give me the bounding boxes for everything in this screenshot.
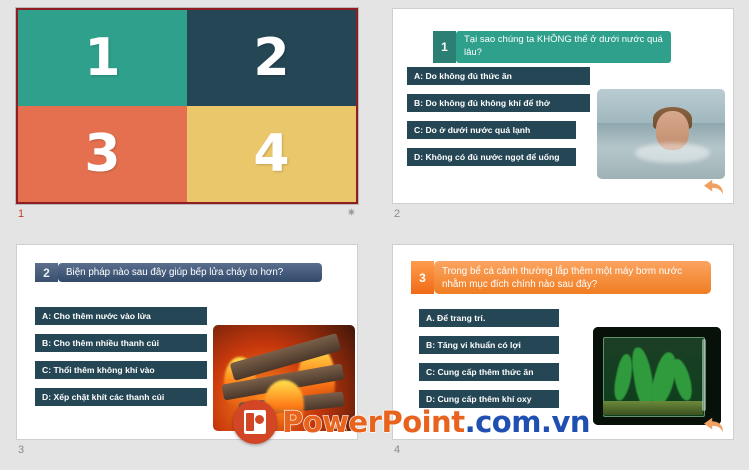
quadrant-3-label: 3	[84, 128, 120, 180]
quiz-slide-2: 1 Tại sao chúng ta KHÔNG thể ở dưới nước…	[393, 9, 733, 203]
question-header: 3 Trong bể cá cảnh thường lắp thêm một m…	[411, 261, 711, 294]
answer-list: A. Để trang trí. B: Tăng vi khuẩn có lợi…	[419, 309, 559, 417]
answer-option-b[interactable]: B: Do không đủ không khí để thở	[407, 94, 590, 112]
quadrant-1-label: 1	[84, 32, 120, 84]
slide-thumbnail-2[interactable]: 1 Tại sao chúng ta KHÔNG thể ở dưới nước…	[382, 6, 744, 234]
quadrant-2-label: 2	[253, 32, 289, 84]
back-arrow-icon[interactable]	[703, 415, 725, 435]
slide-number-label: 1	[18, 208, 24, 220]
swimmer-photo	[597, 89, 725, 179]
answer-option-d[interactable]: D: Không có đủ nước ngọt để uống	[407, 148, 576, 166]
aquarium-photo	[593, 327, 721, 425]
slide-number-label: 2	[394, 208, 400, 220]
back-arrow-icon[interactable]	[703, 177, 725, 197]
back-arrow-icon[interactable]	[327, 415, 349, 435]
slide-number-label: 3	[18, 444, 24, 456]
question-text: Tại sao chúng ta KHÔNG thể ở dưới nước q…	[456, 31, 671, 63]
answer-list: A: Cho thêm nước vào lửa B: Cho thêm nhi…	[35, 307, 207, 415]
answer-option-d[interactable]: D: Xếp chặt khít các thanh củi	[35, 388, 207, 406]
answer-option-b[interactable]: B: Tăng vi khuẩn có lợi	[419, 336, 559, 354]
answer-option-c[interactable]: C: Cung cấp thêm thức ăn	[419, 363, 559, 381]
answer-option-a[interactable]: A: Cho thêm nước vào lửa	[35, 307, 207, 325]
answer-option-c[interactable]: C: Do ở dưới nước quá lạnh	[407, 121, 576, 139]
slide-4-meta: 4	[394, 444, 736, 462]
question-text: Biện pháp nào sau đây giúp bếp lửa cháy …	[58, 263, 322, 282]
animation-star-icon[interactable]: ✷	[347, 207, 356, 220]
slide-2-canvas[interactable]: 1 Tại sao chúng ta KHÔNG thể ở dưới nước…	[392, 8, 734, 204]
slide-3-meta: 3	[18, 444, 360, 462]
question-header: 2 Biện pháp nào sau đây giúp bếp lửa chá…	[35, 263, 322, 282]
number-grid: 1 2 3 4	[18, 10, 356, 202]
slide-1-canvas[interactable]: 1 2 3 4	[16, 8, 358, 204]
answer-option-d[interactable]: D: Cung cấp thêm khí oxy	[419, 390, 559, 408]
slide-thumbnail-3[interactable]: 2 Biện pháp nào sau đây giúp bếp lửa chá…	[6, 242, 368, 470]
slide-thumbnail-grid: 1 2 3 4 1 ✷ 1 Tại sao	[0, 0, 749, 462]
quadrant-4-label: 4	[253, 128, 289, 180]
question-badge: 3	[411, 261, 434, 294]
slide-thumbnail-4[interactable]: 3 Trong bể cá cảnh thường lắp thêm một m…	[382, 242, 744, 470]
quiz-slide-4: 3 Trong bể cá cảnh thường lắp thêm một m…	[393, 245, 733, 439]
question-text: Trong bể cá cảnh thường lắp thêm một máy…	[434, 261, 711, 294]
slide-4-canvas[interactable]: 3 Trong bể cá cảnh thường lắp thêm một m…	[392, 244, 734, 440]
quadrant-4[interactable]: 4	[187, 106, 356, 202]
quadrant-2[interactable]: 2	[187, 10, 356, 106]
slide-1-meta: 1 ✷	[18, 208, 360, 226]
quiz-slide-3: 2 Biện pháp nào sau đây giúp bếp lửa chá…	[17, 245, 357, 439]
answer-option-a[interactable]: A: Do không đủ thức ăn	[407, 67, 590, 85]
quadrant-3[interactable]: 3	[18, 106, 187, 202]
answer-list: A: Do không đủ thức ăn B: Do không đủ kh…	[407, 67, 590, 175]
answer-option-b[interactable]: B: Cho thêm nhiều thanh củi	[35, 334, 207, 352]
slide-thumbnail-1[interactable]: 1 2 3 4 1 ✷	[6, 6, 368, 234]
quadrant-1[interactable]: 1	[18, 10, 187, 106]
question-badge: 1	[433, 31, 456, 63]
slide-number-label: 4	[394, 444, 400, 456]
slide-3-canvas[interactable]: 2 Biện pháp nào sau đây giúp bếp lửa chá…	[16, 244, 358, 440]
question-header: 1 Tại sao chúng ta KHÔNG thể ở dưới nước…	[433, 31, 671, 63]
question-badge: 2	[35, 263, 58, 282]
slide-2-meta: 2	[394, 208, 736, 226]
answer-option-c[interactable]: C: Thổi thêm không khí vào	[35, 361, 207, 379]
answer-option-a[interactable]: A. Để trang trí.	[419, 309, 559, 327]
